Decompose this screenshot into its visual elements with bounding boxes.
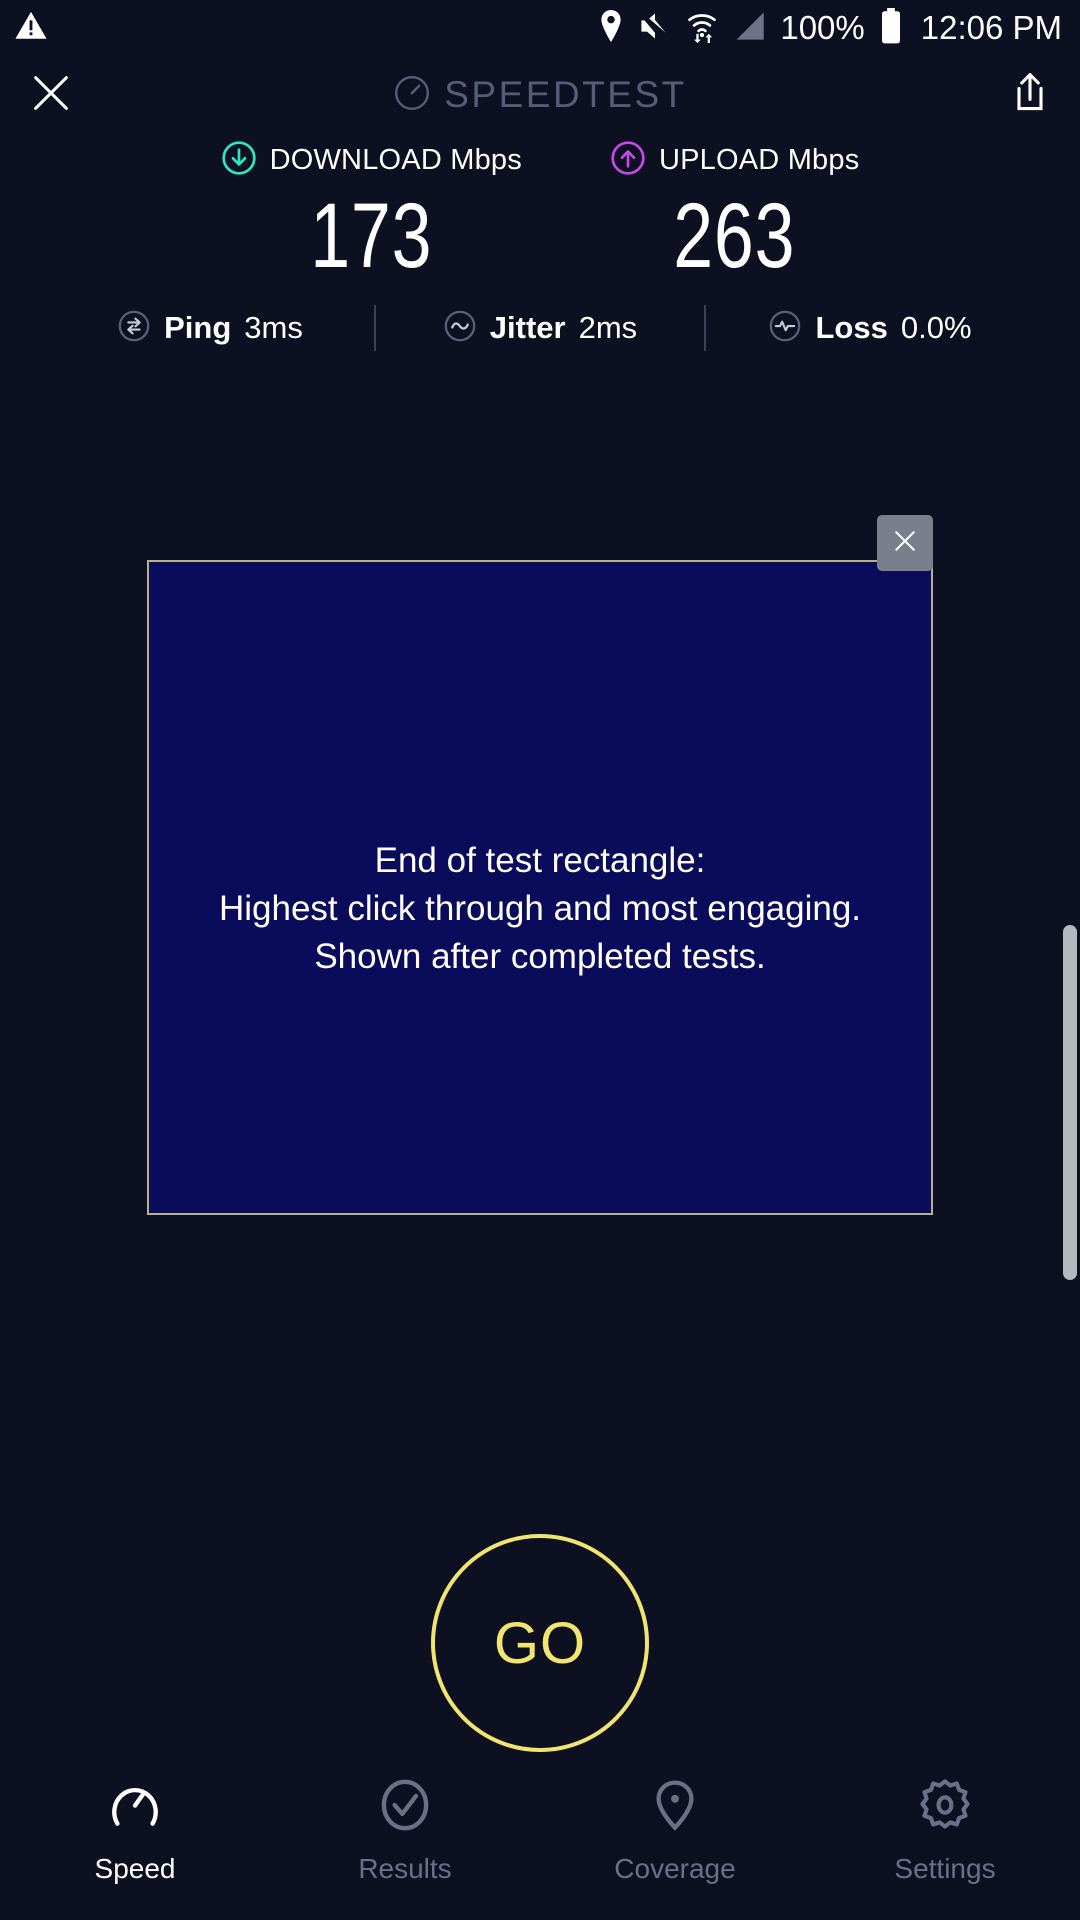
ad-creative[interactable]: End of test rectangle: Highest click thr… <box>147 560 933 1215</box>
jitter-value: 2ms <box>579 310 638 346</box>
upload-header: UPLOAD Mbps <box>610 140 859 181</box>
close-icon <box>890 526 920 561</box>
battery-full-icon <box>879 8 903 49</box>
location-pin-icon <box>598 10 624 47</box>
battery-percent-label: 100% <box>780 9 864 47</box>
upload-unit: Mbps <box>788 144 860 176</box>
download-arrow-icon <box>221 140 257 181</box>
gear-icon <box>916 1776 974 1839</box>
ping-label: Ping <box>164 310 231 346</box>
download-label: DOWNLOAD Mbps <box>270 144 522 177</box>
download-header: DOWNLOAD Mbps <box>221 140 522 181</box>
share-icon[interactable] <box>1008 70 1052 121</box>
nav-item-speed[interactable]: Speed <box>0 1776 270 1885</box>
nav-item-results[interactable]: Results <box>270 1776 540 1885</box>
nav-label-results: Results <box>358 1853 451 1885</box>
loss-label: Loss <box>815 310 887 346</box>
jitter-metric: Jitter 2ms <box>376 309 704 348</box>
loss-metric: Loss 0.0% <box>706 309 1034 348</box>
brand-title: SPEEDTEST <box>444 74 687 116</box>
ping-value: 3ms <box>244 310 303 346</box>
upload-value: 263 <box>674 187 796 285</box>
jitter-label: Jitter <box>490 310 566 346</box>
status-bar-right: 100% 12:06 PM <box>598 8 1062 49</box>
connection-quality-row: Ping 3ms Jitter 2ms <box>0 305 1080 351</box>
download-metric: DOWNLOAD Mbps 173 <box>221 140 522 285</box>
jitter-icon <box>443 309 477 348</box>
speed-metrics-row: DOWNLOAD Mbps 173 UPLOAD Mbps 263 <box>0 140 1080 285</box>
close-icon[interactable] <box>28 70 74 121</box>
speedometer-icon <box>393 74 431 117</box>
upload-metric: UPLOAD Mbps 263 <box>610 140 859 285</box>
check-circle-icon <box>376 1776 434 1839</box>
go-button-label: GO <box>494 1610 586 1677</box>
app-header: SPEEDTEST <box>0 56 1080 134</box>
nav-label-speed: Speed <box>95 1853 176 1885</box>
ping-icon <box>117 309 151 348</box>
go-button[interactable]: GO <box>431 1534 649 1752</box>
upload-arrow-icon <box>610 140 646 181</box>
nav-item-coverage[interactable]: Coverage <box>540 1776 810 1885</box>
status-bar: 100% 12:06 PM <box>0 0 1080 56</box>
warning-triangle-icon <box>14 9 48 48</box>
download-value: 173 <box>310 187 432 285</box>
upload-label: UPLOAD Mbps <box>659 144 859 177</box>
status-bar-left <box>14 9 48 48</box>
speedometer-icon <box>106 1776 164 1839</box>
cellular-signal-icon <box>732 10 766 47</box>
ad-close-button[interactable] <box>877 515 933 571</box>
loss-value: 0.0% <box>901 310 972 346</box>
wifi-icon <box>686 9 718 48</box>
loss-icon <box>768 309 802 348</box>
map-pin-icon <box>646 1776 704 1839</box>
brand-logo: SPEEDTEST <box>0 74 1080 117</box>
nav-label-coverage: Coverage <box>614 1853 735 1885</box>
page-scrollbar-thumb[interactable] <box>1063 925 1077 1280</box>
bottom-navigation-bar: Speed Results Coverage <box>0 1760 1080 1920</box>
volume-muted-icon <box>638 11 672 46</box>
ping-metric: Ping 3ms <box>46 309 374 348</box>
nav-item-settings[interactable]: Settings <box>810 1776 1080 1885</box>
clock-label: 12:06 PM <box>921 9 1062 47</box>
advertisement-container: End of test rectangle: Highest click thr… <box>147 560 933 1215</box>
results-panel: DOWNLOAD Mbps 173 UPLOAD Mbps 263 <box>0 140 1080 351</box>
nav-label-settings: Settings <box>894 1853 995 1885</box>
ad-text: End of test rectangle: Highest click thr… <box>201 837 879 981</box>
speedtest-app-screen: 100% 12:06 PM SPEEDTEST <box>0 0 1080 1920</box>
download-unit: Mbps <box>450 144 522 176</box>
